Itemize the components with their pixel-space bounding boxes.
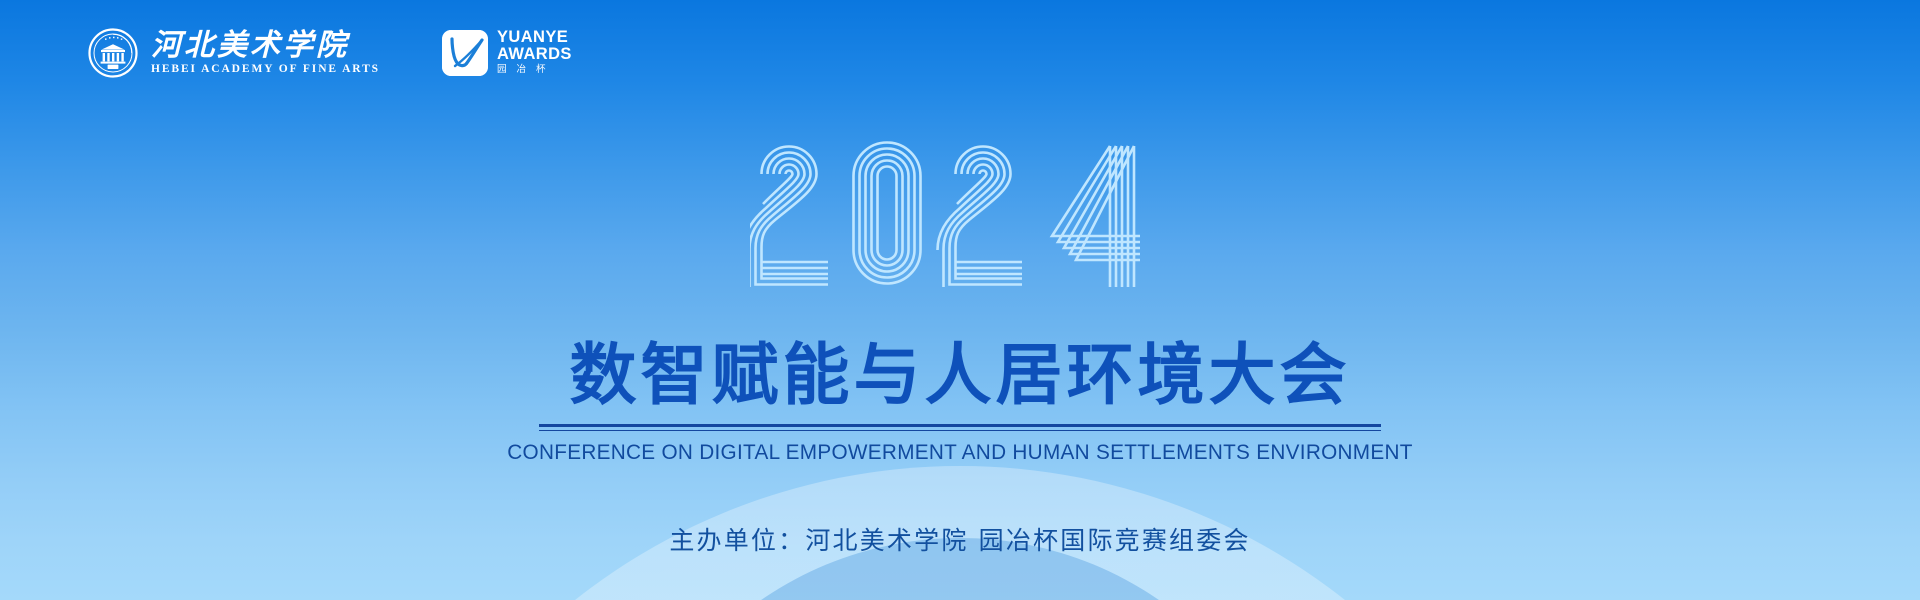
title-divider (539, 424, 1381, 431)
yuanye-awards-mark-icon (442, 30, 488, 76)
page-title: 数智赋能与人居环境大会 (470, 338, 1450, 413)
yuanye-awards-line2: AWARDS (497, 46, 572, 63)
hebei-academy-name-en: HEBEI ACADEMY OF FINE ARTS (151, 64, 380, 76)
organizer-block: 主办单位：河北美术学院 园冶杯国际竞赛组委会 (410, 528, 1510, 553)
divider-line-thick (539, 424, 1381, 427)
hebei-academy-seal-icon (88, 28, 138, 78)
conference-banner: 河北美术学院 HEBEI ACADEMY OF FINE ARTS YUANYE… (0, 0, 1920, 600)
divider-line-thin (539, 430, 1381, 431)
page-subtitle: CONFERENCE ON DIGITAL EMPOWERMENT AND HU… (487, 442, 1433, 464)
hebei-academy-wordmark: 河北美术学院 HEBEI ACADEMY OF FINE ARTS (151, 31, 380, 76)
year-graphic-2024 (750, 132, 1170, 287)
yuanye-awards-line1: YUANYE (497, 29, 568, 46)
hebei-academy-logo[interactable]: 河北美术学院 HEBEI ACADEMY OF FINE ARTS (88, 28, 380, 78)
headline-block: 数智赋能与人居环境大会 CONFERENCE ON DIGITAL EMPOWE… (470, 338, 1450, 464)
year-digit-4 (1052, 146, 1140, 287)
organizer-text: 主办单位：河北美术学院 园冶杯国际竞赛组委会 (410, 528, 1510, 553)
year-digit-0 (854, 143, 921, 284)
yuanye-awards-name-cn: 园 冶 杯 (497, 63, 549, 77)
yuanye-awards-logo[interactable]: YUANYE AWARDS 园 冶 杯 (442, 29, 572, 78)
year-digit-2-second (938, 147, 1023, 287)
year-digit-2-first (750, 147, 828, 287)
yuanye-awards-wordmark: YUANYE AWARDS 园 冶 杯 (497, 29, 572, 78)
hebei-academy-name-cn: 河北美术学院 (151, 31, 349, 61)
logo-bar: 河北美术学院 HEBEI ACADEMY OF FINE ARTS YUANYE… (88, 28, 572, 78)
